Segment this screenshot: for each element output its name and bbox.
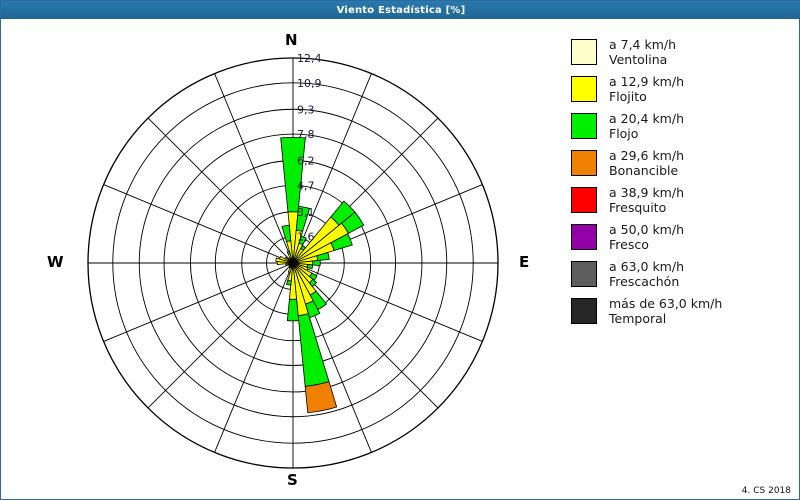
rose-petal-segment (287, 280, 292, 285)
legend-label: a 20,4 km/hFlojo (609, 111, 684, 141)
compass-label-south: S (287, 471, 298, 489)
legend-item[interactable]: a 12,9 km/hFlojito (571, 74, 797, 104)
legend-label-speed: a 20,4 km/h (609, 111, 684, 126)
legend-label: a 12,9 km/hFlojito (609, 74, 684, 104)
content-panel: 1,63,14,76,27,89,310,912,4 N S E W a 7,4… (3, 21, 797, 498)
compass-label-north: N (285, 31, 298, 49)
legend-label-speed: a 38,9 km/h (609, 185, 684, 200)
compass-label-east: E (519, 253, 529, 271)
radial-tick-label: 10,9 (297, 77, 322, 90)
grid-spoke (215, 263, 293, 452)
radial-tick-label: 12,4 (297, 52, 322, 65)
legend-color-swatch (571, 150, 597, 176)
legend-label-name: Frescachón (609, 274, 684, 289)
legend-color-swatch (571, 113, 597, 139)
grid-spoke (148, 118, 293, 263)
legend-label-speed: a 50,0 km/h (609, 222, 684, 237)
legend-color-swatch (571, 187, 597, 213)
legend-label: a 38,9 km/hFresquito (609, 185, 684, 215)
legend-color-swatch (571, 76, 597, 102)
wind-rose-svg: 1,63,14,76,27,89,310,912,4 (3, 21, 563, 498)
legend-color-swatch (571, 39, 597, 65)
compass-label-west: W (47, 253, 64, 271)
grid-spoke (104, 263, 293, 341)
legend-label-speed: a 29,6 km/h (609, 148, 684, 163)
legend-color-swatch (571, 261, 597, 287)
legend-color-swatch (571, 224, 597, 250)
legend-label: a 63,0 km/hFrescachón (609, 259, 684, 289)
rose-petal-segment (313, 260, 321, 265)
radial-tick-label: 4,7 (297, 179, 315, 192)
radial-tick-label: 6,2 (297, 155, 315, 168)
rose-petal-segment (281, 137, 306, 212)
legend-label-name: Flojito (609, 89, 684, 104)
window-title-bar: Viento Estadística [%] (1, 1, 800, 19)
rose-petal-segment (298, 314, 329, 387)
grid-spoke (148, 263, 293, 408)
grid-spoke (215, 74, 293, 263)
radial-tick-label: 3,1 (297, 206, 315, 219)
rose-petal-segment (287, 299, 298, 321)
legend-label-name: Ventolina (609, 52, 676, 67)
legend-label-speed: a 12,9 km/h (609, 74, 684, 89)
legend-label-speed: más de 63,0 km/h (609, 296, 722, 311)
legend-label-speed: a 63,0 km/h (609, 259, 684, 274)
legend-label-speed: a 7,4 km/h (609, 37, 676, 52)
legend-label: a 50,0 km/hFresco (609, 222, 684, 252)
legend-item[interactable]: a 7,4 km/hVentolina (571, 37, 797, 67)
radial-tick-label: 9,3 (297, 103, 315, 116)
wind-rose-window: Viento Estadística [%] 1,63,14,76,27,89,… (0, 0, 800, 500)
legend-item[interactable]: a 63,0 km/hFrescachón (571, 259, 797, 289)
legend-label-name: Temporal (609, 311, 722, 326)
legend: a 7,4 km/hVentolinaa 12,9 km/hFlojitoa 2… (571, 37, 797, 333)
window-title: Viento Estadística [%] (337, 5, 466, 16)
wind-rose-plot: 1,63,14,76,27,89,310,912,4 N S E W (3, 21, 563, 498)
radial-tick-label: 7,8 (297, 128, 315, 141)
footer-credit: 4. CS 2018 (742, 486, 791, 496)
legend-label: a 7,4 km/hVentolina (609, 37, 676, 67)
legend-item[interactable]: a 29,6 km/hBonancible (571, 148, 797, 178)
legend-color-swatch (571, 298, 597, 324)
legend-label: más de 63,0 km/hTemporal (609, 296, 722, 326)
grid-spoke (104, 185, 293, 263)
radial-tick-label: 1,6 (297, 231, 315, 244)
legend-item[interactable]: a 50,0 km/hFresco (571, 222, 797, 252)
legend-label-name: Fresquito (609, 200, 684, 215)
legend-label: a 29,6 km/hBonancible (609, 148, 684, 178)
legend-label-name: Fresco (609, 237, 684, 252)
legend-item[interactable]: a 38,9 km/hFresquito (571, 185, 797, 215)
legend-item[interactable]: a 20,4 km/hFlojo (571, 111, 797, 141)
legend-item[interactable]: más de 63,0 km/hTemporal (571, 296, 797, 326)
legend-label-name: Flojo (609, 126, 684, 141)
legend-label-name: Bonancible (609, 163, 684, 178)
